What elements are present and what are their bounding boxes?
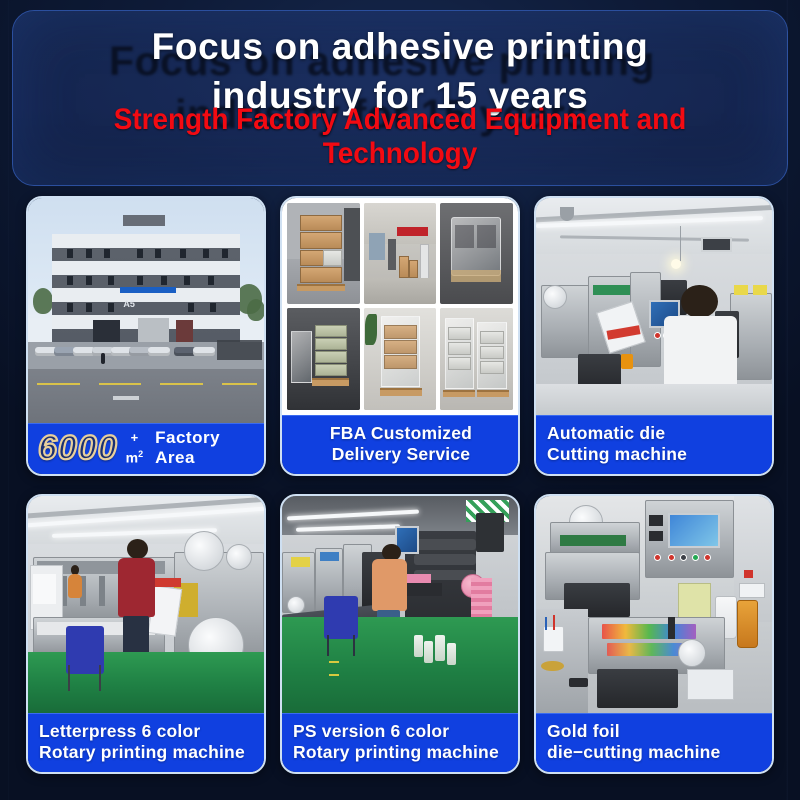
collage-cell xyxy=(364,203,437,304)
card-caption: Gold foil die−cutting machine xyxy=(536,713,772,772)
card-ps-version-rotary[interactable]: PS version 6 color Rotary printing machi… xyxy=(280,494,520,774)
product-grid: A5 xyxy=(26,196,774,774)
photo-fba-collage xyxy=(282,198,518,415)
card-caption: Automatic die Cutting machine xyxy=(536,415,772,474)
card-fba-delivery[interactable]: FBA Customized Delivery Service xyxy=(280,196,520,476)
photo-letterpress-machine xyxy=(28,496,264,713)
badge-unit-exponent: 2 xyxy=(138,449,143,459)
photo-die-cutting-machine xyxy=(536,198,772,415)
header-panel: Focus on adhesive printing industry for … xyxy=(12,10,788,186)
card-caption: FBA Customized Delivery Service xyxy=(282,415,518,474)
badge-plus: + xyxy=(131,431,139,444)
card-gold-foil-die-cutting[interactable]: Gold foil die−cutting machine xyxy=(534,494,774,774)
collage-cell xyxy=(287,308,360,409)
page-subtitle: Strength Factory Advanced Equipment and … xyxy=(40,103,760,171)
collage-cell xyxy=(440,203,513,304)
collage-cell xyxy=(287,203,360,304)
promotional-poster: Focus on adhesive printing industry for … xyxy=(0,0,800,800)
badge-units: + m2 xyxy=(124,431,145,465)
worker-figure xyxy=(68,565,82,608)
factory-area-badge: 6000 + m2 Factory Area xyxy=(28,423,264,474)
collage-cell xyxy=(440,308,513,409)
building-label: A5 xyxy=(123,299,135,309)
card-factory-area[interactable]: A5 xyxy=(26,196,266,476)
chair xyxy=(324,596,357,639)
photo-gold-foil-machine xyxy=(536,496,772,713)
card-caption: PS version 6 color Rotary printing machi… xyxy=(282,713,518,772)
card-automatic-die-cutting[interactable]: Automatic die Cutting machine xyxy=(534,196,774,476)
badge-number: 6000 xyxy=(38,431,118,465)
badge-unit: m2 xyxy=(126,450,143,465)
card-caption: Letterpress 6 color Rotary printing mach… xyxy=(28,713,264,772)
photo-factory-building: A5 xyxy=(28,198,264,423)
collage-cell xyxy=(364,308,437,409)
card-letterpress-rotary[interactable]: Letterpress 6 color Rotary printing mach… xyxy=(26,494,266,774)
badge-label: Factory Area xyxy=(155,428,256,468)
photo-ps-version-machine xyxy=(282,496,518,713)
